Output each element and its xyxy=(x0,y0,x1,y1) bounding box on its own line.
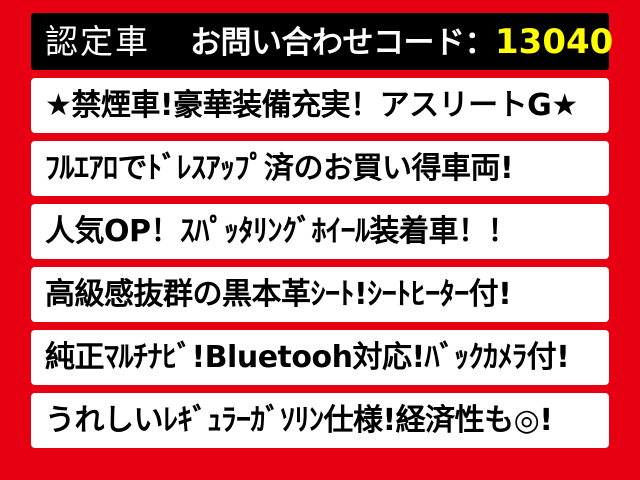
feature-list: ★禁煙車!豪華装備充実！アスリートG★ ﾌﾙｴｱﾛでﾄﾞﾚｽｱｯﾌﾟ済のお買い得… xyxy=(31,78,609,456)
feature-text: 人気OP！ｽﾊﾟｯﾀﾘﾝｸﾞﾎｲｰﾙ装着車！！ xyxy=(45,217,517,247)
feature-text: ﾌﾙｴｱﾛでﾄﾞﾚｽｱｯﾌﾟ済のお買い得車両! xyxy=(45,154,513,184)
feature-row: ★禁煙車!豪華装備充実！アスリートG★ xyxy=(31,78,609,133)
feature-text: 高級感抜群の黒本革ｼｰﾄ!ｼｰﾄﾋｰﾀｰ付! xyxy=(45,280,511,310)
feature-row: 純正ﾏﾙﾁﾅﾋﾞ!Bluetooh対応!ﾊﾞｯｸｶﾒﾗ付! xyxy=(31,330,609,385)
feature-text: 純正ﾏﾙﾁﾅﾋﾞ!Bluetooh対応!ﾊﾞｯｸｶﾒﾗ付! xyxy=(45,343,569,373)
feature-row: うれしいﾚｷﾞｭﾗｰｶﾞｿﾘﾝ仕様!経済性も◎! xyxy=(31,393,609,448)
inquiry-code-group: お問い合わせコード： 13040 xyxy=(190,25,613,59)
inquiry-code-label: お問い合わせコード： xyxy=(190,28,495,59)
feature-row: 人気OP！ｽﾊﾟｯﾀﾘﾝｸﾞﾎｲｰﾙ装着車！！ xyxy=(31,204,609,259)
certified-car-label: 認定車 xyxy=(45,25,150,58)
certified-car-banner: 認定車 お問い合わせコード： 13040 ★禁煙車!豪華装備充実！アスリートG★… xyxy=(0,0,640,480)
feature-text: うれしいﾚｷﾞｭﾗｰｶﾞｿﾘﾝ仕様!経済性も◎! xyxy=(45,406,553,436)
feature-row: 高級感抜群の黒本革ｼｰﾄ!ｼｰﾄﾋｰﾀｰ付! xyxy=(31,267,609,322)
header-bar: 認定車 お問い合わせコード： 13040 xyxy=(31,13,609,70)
inquiry-code-value: 13040 xyxy=(495,25,613,59)
feature-row: ﾌﾙｴｱﾛでﾄﾞﾚｽｱｯﾌﾟ済のお買い得車両! xyxy=(31,141,609,196)
feature-text: ★禁煙車!豪華装備充実！アスリートG★ xyxy=(45,91,578,121)
